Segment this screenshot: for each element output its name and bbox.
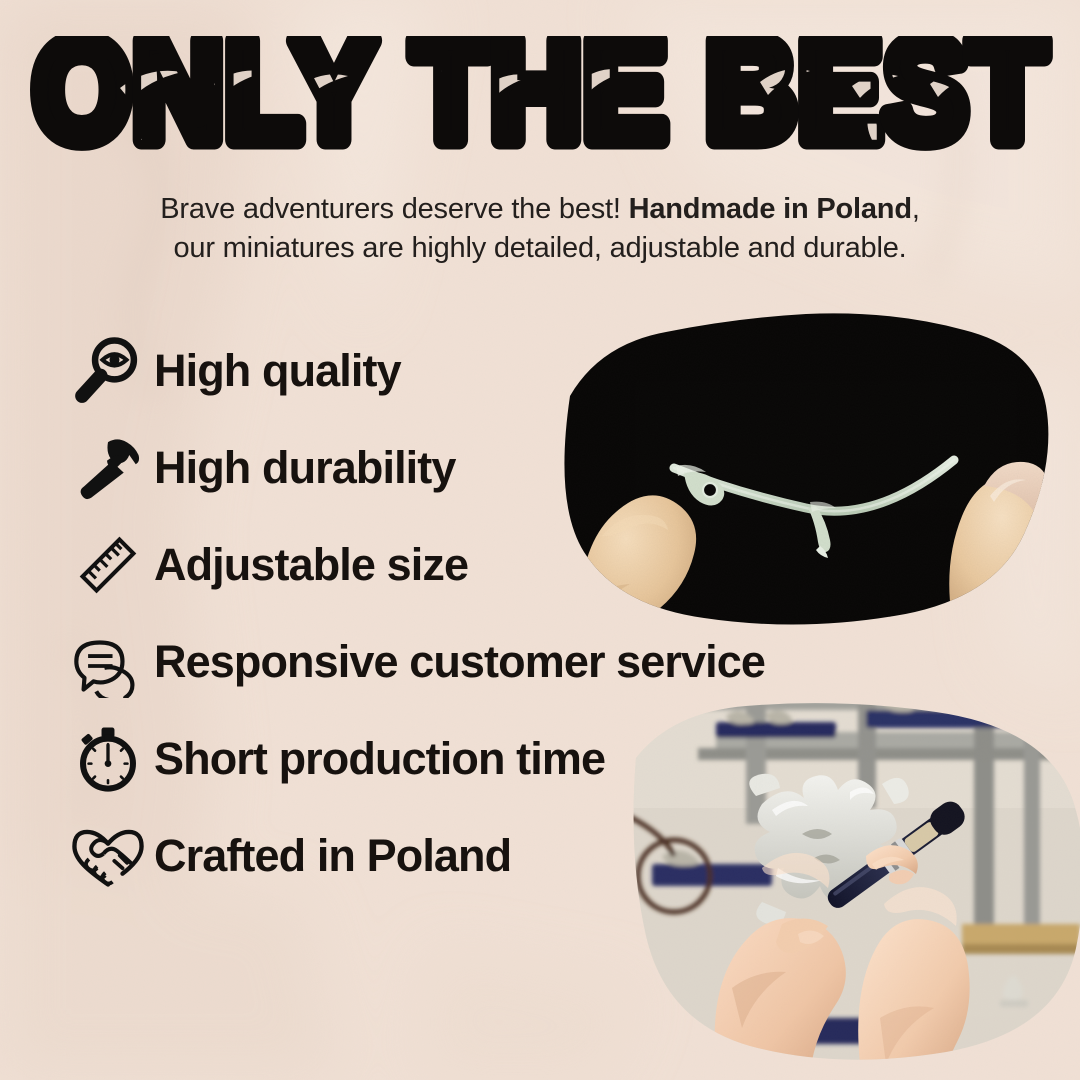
stopwatch-icon <box>62 715 154 803</box>
feature-item-high-quality: High quality <box>62 322 802 419</box>
handshake-heart-icon <box>62 812 154 900</box>
feature-label: Short production time <box>154 733 605 785</box>
headline-container: ONLY THE BEST ONLY THE BEST <box>0 36 1080 166</box>
feature-label: Responsive customer service <box>154 636 765 688</box>
page-title: ONLY THE BEST ONLY THE BEST <box>0 36 1080 166</box>
hammer-icon <box>62 424 154 512</box>
feature-item-production-time: Short production time <box>62 710 802 807</box>
feature-label: High quality <box>154 345 401 397</box>
feature-item-crafted-in-poland: Crafted in Poland <box>62 807 802 904</box>
feature-label: High durability <box>154 442 456 494</box>
feature-list: High quality High durability Adjustable … <box>62 322 802 904</box>
subtitle-line1-pre: Brave adventurers deserve the best! <box>160 193 628 225</box>
speech-bubbles-icon <box>62 618 154 706</box>
headline-text: ONLY THE BEST <box>33 36 1047 166</box>
feature-label: Adjustable size <box>154 539 468 591</box>
subtitle: Brave adventurers deserve the best! Hand… <box>60 190 1020 267</box>
magnifier-eye-icon <box>62 327 154 415</box>
feature-label: Crafted in Poland <box>154 830 511 882</box>
feature-item-adjustable-size: Adjustable size <box>62 516 802 613</box>
ruler-icon <box>62 521 154 609</box>
subtitle-line2: our miniatures are highly detailed, adju… <box>173 232 906 264</box>
feature-item-high-durability: High durability <box>62 419 802 516</box>
subtitle-bold-phrase: Handmade in Poland <box>629 193 912 225</box>
subtitle-line1-post: , <box>912 193 920 225</box>
feature-item-customer-service: Responsive customer service <box>62 613 802 710</box>
